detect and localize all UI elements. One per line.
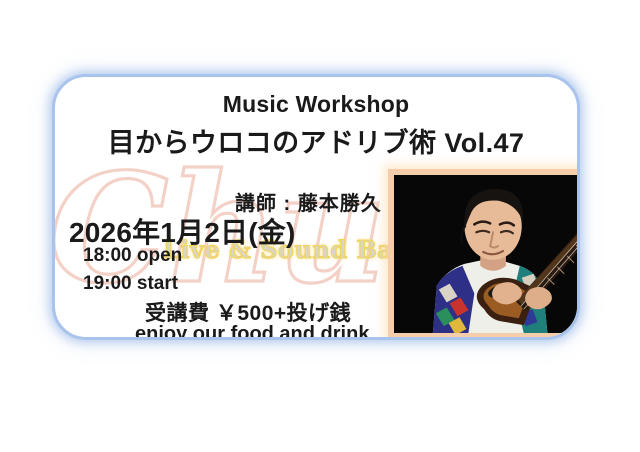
door-open-time: 18:00 open	[83, 245, 182, 267]
headline-english: Music Workshop	[55, 91, 577, 118]
artist-photo-frame	[388, 169, 580, 339]
food-drink-note: enjoy our food and drink	[135, 323, 369, 340]
event-flyer-card: Chura Live & Sound Bar	[52, 74, 580, 340]
show-start-time: 19:00 start	[83, 273, 178, 295]
headline-japanese: 目からウロコのアドリブ術 Vol.47	[55, 121, 577, 160]
artist-photo	[394, 175, 580, 333]
